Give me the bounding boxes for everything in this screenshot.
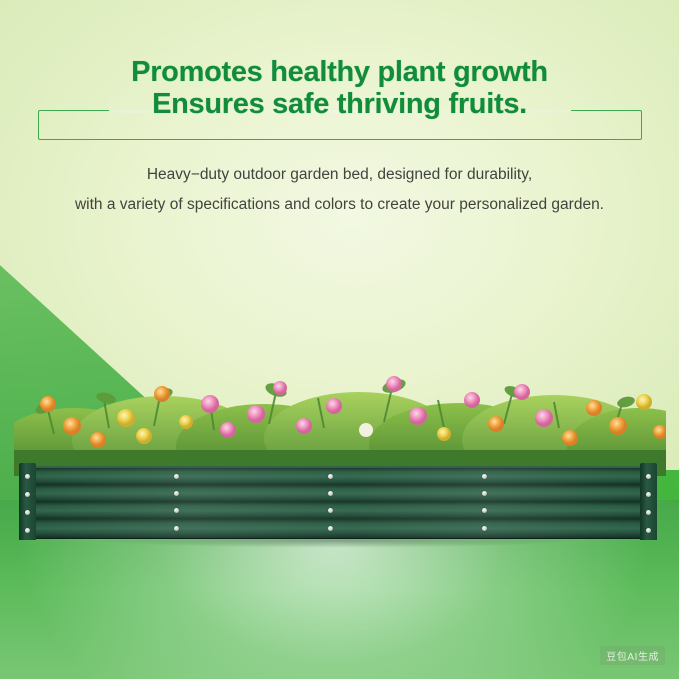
bed-bolt — [328, 474, 333, 479]
subtitle: Heavy−duty outdoor garden bed, designed … — [0, 160, 679, 220]
post-bolt — [646, 510, 651, 515]
post-bolt — [646, 528, 651, 533]
bed-bolt — [328, 508, 333, 513]
ai-watermark: 豆包AI生成 — [600, 646, 665, 665]
bed-bolt — [482, 508, 487, 513]
bed-bolt — [174, 508, 179, 513]
post-bolt — [25, 528, 30, 533]
bed-panel-rib — [28, 502, 648, 520]
bed-bolt — [174, 491, 179, 496]
plants-foliage — [14, 330, 666, 476]
post-bolt — [646, 492, 651, 497]
subtitle-line-2: with a variety of specifications and col… — [0, 190, 679, 220]
headline-line-2: Ensures safe thriving fruits. — [0, 88, 679, 120]
bed-panel-rib — [28, 519, 648, 539]
post-bolt — [25, 474, 30, 479]
bed-panel-rib — [28, 468, 648, 486]
bed-panel-rib — [28, 485, 648, 503]
bed-corner-post-right — [640, 463, 657, 540]
bed-bolt — [328, 491, 333, 496]
page-title: Promotes healthy plant growth Ensures sa… — [0, 56, 679, 120]
raised-garden-bed — [28, 466, 648, 540]
bed-bolt — [482, 474, 487, 479]
subtitle-line-1: Heavy−duty outdoor garden bed, designed … — [0, 160, 679, 190]
bed-bolt — [482, 491, 487, 496]
bed-bolt — [482, 526, 487, 531]
bed-bolt — [174, 526, 179, 531]
bed-bolt — [174, 474, 179, 479]
post-bolt — [25, 492, 30, 497]
bed-corner-post-left — [19, 463, 36, 540]
bed-bolt — [328, 526, 333, 531]
bed-body — [28, 466, 648, 538]
product-image — [0, 330, 679, 560]
poster-canvas: Promotes healthy plant growth Ensures sa… — [0, 0, 679, 679]
headline-line-1: Promotes healthy plant growth — [0, 56, 679, 88]
post-bolt — [646, 474, 651, 479]
post-bolt — [25, 510, 30, 515]
